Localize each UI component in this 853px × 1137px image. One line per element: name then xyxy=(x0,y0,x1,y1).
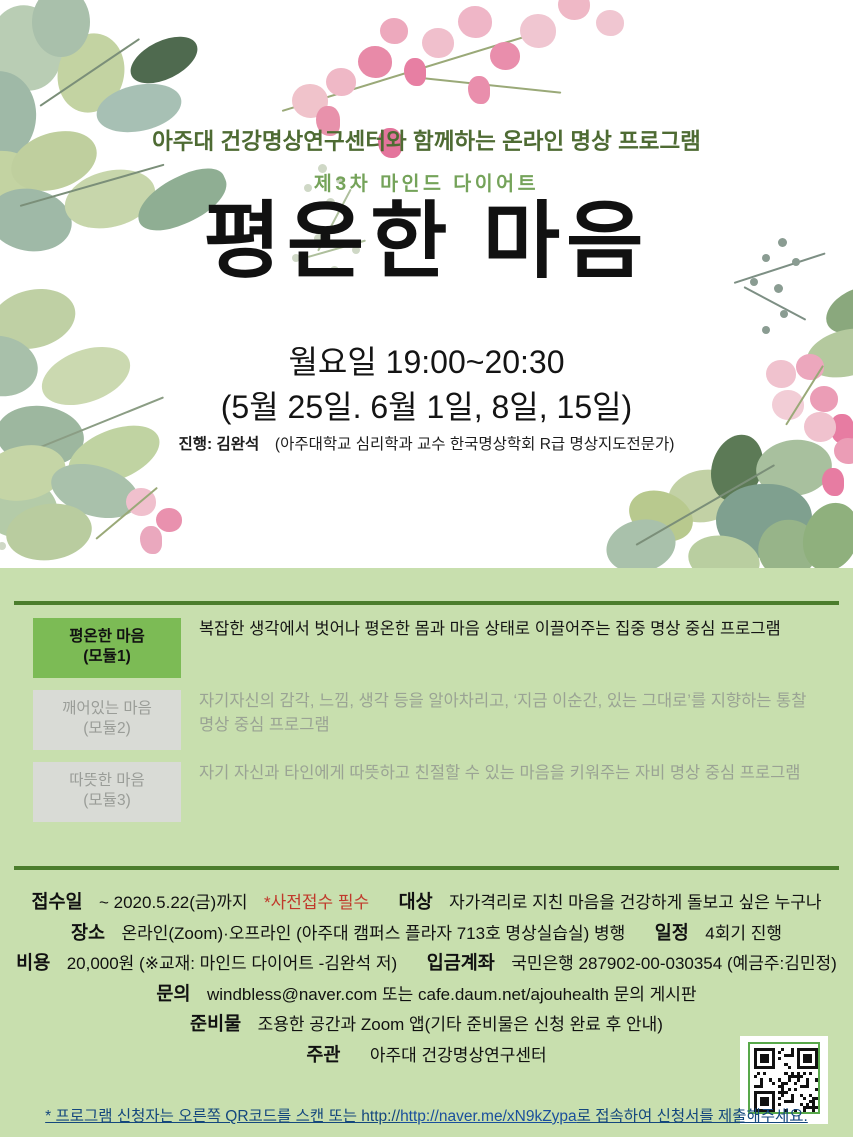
module-description-3: 자기 자신과 타인에게 따뜻하고 친절할 수 있는 마음을 키워주는 자비 명상… xyxy=(181,762,853,786)
module-description-1: 복잡한 생각에서 벗어나 평온한 몸과 마음 상태로 이끌어주는 집중 명상 중… xyxy=(181,618,853,642)
footnote-prefix: * 프로그램 신청자는 오른쪽 QR코드를 스캔 또는 http:// xyxy=(45,1108,400,1125)
program-series-label: 제3차 마인드 다이어트 xyxy=(0,167,853,196)
info-line-prepare: 준비물 조용한 공간과 Zoom 앱(기타 준비물은 신청 완료 후 안내) xyxy=(0,1015,853,1034)
contact-value: windbless@naver.com 또는 cafe.daum.net/ajo… xyxy=(207,985,697,1004)
module-name-1: 평온한 마음 xyxy=(35,627,179,647)
page-title: 평온한 마음 xyxy=(0,193,853,290)
module-name-3: 따뜻한 마음 xyxy=(35,771,179,791)
divider-top xyxy=(14,601,839,605)
plan-value: 4회기 진행 xyxy=(705,924,782,943)
page-subtitle-center: 아주대 건강명상연구센터와 함께하는 온라인 명상 프로그램 xyxy=(0,124,853,156)
module-name-2: 깨어있는 마음 xyxy=(35,699,179,719)
info-line-place: 장소 온라인(Zoom)·오프라인 (아주대 캠퍼스 플라자 713호 명상실습… xyxy=(0,924,853,943)
place-label: 장소 xyxy=(71,922,105,943)
info-line-cost: 비용 20,000원 (※교재: 마인드 다이어트 -김완석 저) 입금계좌 국… xyxy=(0,954,853,973)
module-chip-2[interactable]: 깨어있는 마음 (모듈2) xyxy=(33,690,181,750)
module-chip-1[interactable]: 평온한 마음 (모듈1) xyxy=(33,618,181,678)
footnote: * 프로그램 신청자는 오른쪽 QR코드를 스캔 또는 http://http:… xyxy=(0,1104,853,1126)
host-value: 아주대 건강명상연구센터 xyxy=(370,1046,547,1065)
account-label: 입금계좌 xyxy=(427,952,495,973)
footnote-suffix: 로 접속하여 신청서를 제출해주세요. xyxy=(577,1108,808,1125)
contact-label: 문의 xyxy=(156,983,190,1004)
poster-canvas: 아주대 건강명상연구센터와 함께하는 온라인 명상 프로그램 제3차 마인드 다… xyxy=(0,0,853,1137)
module-row: 따뜻한 마음 (모듈3) 자기 자신과 타인에게 따뜻하고 친절할 수 있는 마… xyxy=(0,762,853,822)
cost-label: 비용 xyxy=(16,952,50,973)
presenter-detail: (아주대학교 심리학과 교수 한국명상학회 R급 명상지도전문가) xyxy=(275,436,675,453)
cost-value: 20,000원 (※교재: 마인드 다이어트 -김완석 저) xyxy=(67,954,398,973)
host-label: 주관 xyxy=(306,1044,340,1065)
module-chip-3[interactable]: 따뜻한 마음 (모듈3) xyxy=(33,762,181,822)
target-value: 자가격리로 지친 마음을 건강하게 돌보고 싶은 누구나 xyxy=(449,893,821,912)
info-block: 접수일 ~ 2020.5.22(금)까지 *사전접수 필수 대상 자가격리로 지… xyxy=(0,893,853,1076)
registration-link[interactable]: http://naver.me/xN9kZypa xyxy=(400,1108,577,1125)
prepare-value: 조용한 공간과 Zoom 앱(기타 준비물은 신청 완료 후 안내) xyxy=(258,1015,663,1034)
info-line-contact: 문의 windbless@naver.com 또는 cafe.daum.net/… xyxy=(0,985,853,1004)
info-line-application: 접수일 ~ 2020.5.22(금)까지 *사전접수 필수 대상 자가격리로 지… xyxy=(0,893,853,912)
plan-label: 일정 xyxy=(655,922,689,943)
divider-bottom xyxy=(14,866,839,870)
presenter-label: 진행: 김완석 xyxy=(179,436,260,453)
prepare-label: 준비물 xyxy=(190,1013,241,1034)
presenter-line: 진행: 김완석 (아주대학교 심리학과 교수 한국명상학회 R급 명상지도전문가… xyxy=(0,432,853,454)
place-value: 온라인(Zoom)·오프라인 (아주대 캠퍼스 플라자 713호 명상실습실) … xyxy=(121,924,625,943)
schedule-time: 월요일 19:00~20:30 xyxy=(0,340,853,385)
target-label: 대상 xyxy=(399,891,433,912)
module-number-3: (모듈3) xyxy=(35,791,179,811)
module-number-1: (모듈1) xyxy=(35,647,179,667)
module-number-2: (모듈2) xyxy=(35,719,179,739)
application-value: ~ 2020.5.22(금)까지 xyxy=(99,893,248,912)
application-required-note: *사전접수 필수 xyxy=(264,893,369,912)
application-label: 접수일 xyxy=(31,891,82,912)
module-row: 깨어있는 마음 (모듈2) 자기자신의 감각, 느낌, 생각 등을 알아차리고,… xyxy=(0,690,853,750)
info-line-host: 주관 아주대 건강명상연구센터 xyxy=(0,1046,853,1065)
module-list: 평온한 마음 (모듈1) 복잡한 생각에서 벗어나 평온한 몸과 마음 상태로 … xyxy=(0,618,853,834)
qr-code-matrix xyxy=(754,1048,818,1112)
schedule-dates: (5월 25일. 6월 1일, 8일, 15일) xyxy=(0,385,853,430)
account-value: 국민은행 287902-00-030354 (예금주:김민정) xyxy=(511,954,837,973)
module-description-2: 자기자신의 감각, 느낌, 생각 등을 알아차리고, ‘지금 이순간, 있는 그… xyxy=(181,690,853,738)
schedule-block: 월요일 19:00~20:30 (5월 25일. 6월 1일, 8일, 15일) xyxy=(0,340,853,431)
module-row: 평온한 마음 (모듈1) 복잡한 생각에서 벗어나 평온한 몸과 마음 상태로 … xyxy=(0,618,853,678)
